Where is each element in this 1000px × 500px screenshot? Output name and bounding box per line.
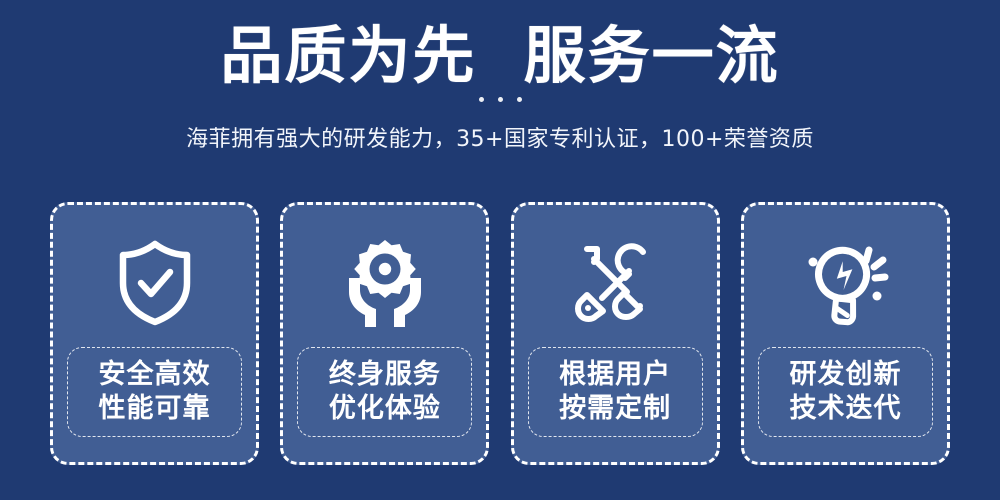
feature-card-service[interactable]: 终身服务 优化体验 — [280, 202, 489, 465]
feature-card-label: 终身服务 优化体验 — [297, 347, 472, 437]
feature-card-list: 安全高效 性能可靠 终身服务 优化体验 — [50, 202, 950, 465]
banner-header: 品质为先 服务一流 海菲拥有强大的研发能力，35+国家专利认证，100+荣誉资质 — [0, 0, 1000, 185]
divider-dot — [479, 97, 484, 102]
feature-card-safety[interactable]: 安全高效 性能可靠 — [50, 202, 259, 465]
dot-divider — [0, 97, 1000, 102]
feature-label-line2: 技术迭代 — [789, 392, 901, 426]
feature-card-label: 研发创新 技术迭代 — [758, 347, 933, 437]
feature-card-innovation[interactable]: 研发创新 技术迭代 — [741, 202, 950, 465]
feature-label-line2: 性能可靠 — [99, 392, 211, 426]
divider-dot — [498, 97, 503, 102]
feature-label-line1: 根据用户 — [559, 358, 671, 392]
crossed-tools-icon — [567, 231, 663, 335]
feature-card-custom[interactable]: 根据用户 按需定制 — [511, 202, 720, 465]
feature-card-label: 根据用户 按需定制 — [528, 347, 703, 437]
feature-label-line2: 按需定制 — [559, 392, 671, 426]
divider-dot — [517, 97, 522, 102]
page-title: 品质为先 服务一流 — [0, 22, 1000, 90]
feature-label-line1: 安全高效 — [99, 358, 211, 392]
subtitle: 海菲拥有强大的研发能力，35+国家专利认证，100+荣誉资质 — [0, 126, 1000, 154]
feature-label-line1: 终身服务 — [329, 358, 441, 392]
gear-in-hands-icon — [337, 231, 433, 335]
promo-banner: 品质为先 服务一流 海菲拥有强大的研发能力，35+国家专利认证，100+荣誉资质… — [0, 0, 1000, 500]
lightbulb-idea-icon — [797, 231, 893, 335]
feature-label-line1: 研发创新 — [789, 358, 901, 392]
feature-label-line2: 优化体验 — [329, 392, 441, 426]
feature-card-label: 安全高效 性能可靠 — [67, 347, 242, 437]
shield-check-icon — [107, 231, 203, 335]
